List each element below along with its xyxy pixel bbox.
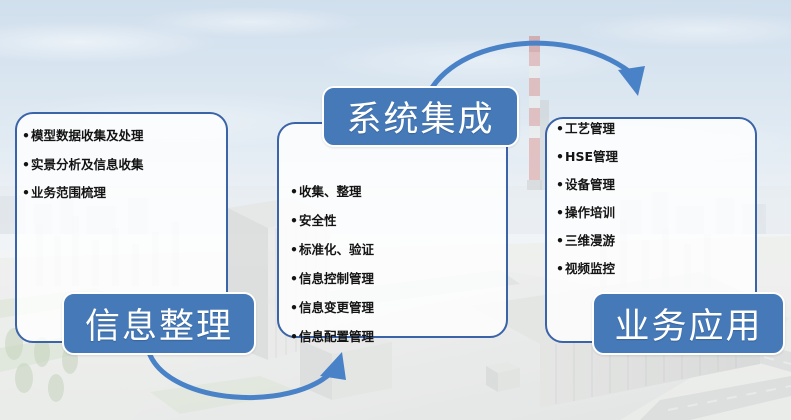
list-item: •视频监控 [556,263,618,276]
list-item-label: 信息配置管理 [299,329,374,344]
stage-badge-business-application: 业务应用 [592,292,785,355]
bullet-icon: • [290,331,298,344]
stage-badge-information-collation: 信息整理 [62,292,256,355]
list-item: •模型数据收集及处理 [22,130,144,143]
bullet-icon: • [22,159,30,172]
list-item: •标准化、验证 [290,244,374,257]
list-item: •信息控制管理 [290,273,374,286]
list-item: •操作培训 [556,207,618,220]
list-item: •设备管理 [556,179,618,192]
list-item-label: 业务范围梳理 [31,185,106,200]
bullet-icon: • [290,244,298,257]
list-item: •信息配置管理 [290,331,374,344]
bullet-icon: • [22,187,30,200]
list-item-label: 信息变更管理 [299,300,374,315]
list-item: •实景分析及信息收集 [22,159,144,172]
list-item-label: 信息控制管理 [299,271,374,286]
bullet-icon: • [556,263,564,276]
list-item-label: 标准化、验证 [299,242,374,257]
list-item-label: 设备管理 [565,177,615,192]
list-item-label: HSE管理 [565,149,618,164]
list-item-label: 模型数据收集及处理 [31,128,144,143]
stage-items-information-collation: •模型数据收集及处理 •实景分析及信息收集 •业务范围梳理 [22,130,144,216]
diagram-canvas: •模型数据收集及处理 •实景分析及信息收集 •业务范围梳理 •收集、整理 •安全… [0,0,791,420]
list-item-label: 视频监控 [565,261,615,276]
list-item-label: 实景分析及信息收集 [31,157,144,172]
list-item: •HSE管理 [556,151,618,164]
bullet-icon: • [556,123,564,136]
stage-badge-system-integration: 系统集成 [322,86,519,147]
list-item-label: 安全性 [299,213,337,228]
bullet-icon: • [290,273,298,286]
list-item: •三维漫游 [556,235,618,248]
list-item: •安全性 [290,215,374,228]
bullet-icon: • [290,186,298,199]
list-item: •信息变更管理 [290,302,374,315]
bullet-icon: • [556,207,564,220]
list-item: •工艺管理 [556,123,618,136]
list-item-label: 工艺管理 [565,121,615,136]
bullet-icon: • [556,179,564,192]
list-item: •收集、整理 [290,186,374,199]
bullet-icon: • [290,302,298,315]
bullet-icon: • [290,215,298,228]
list-item: •业务范围梳理 [22,187,144,200]
list-item-label: 操作培训 [565,205,615,220]
bullet-icon: • [556,151,564,164]
bullet-icon: • [556,235,564,248]
list-item-label: 收集、整理 [299,184,362,199]
stage-items-system-integration: •收集、整理 •安全性 •标准化、验证 •信息控制管理 •信息变更管理 •信息配… [290,186,374,360]
list-item-label: 三维漫游 [565,233,615,248]
bullet-icon: • [22,130,30,143]
stage-items-business-application: •工艺管理 •HSE管理 •设备管理 •操作培训 •三维漫游 •视频监控 [556,123,618,291]
